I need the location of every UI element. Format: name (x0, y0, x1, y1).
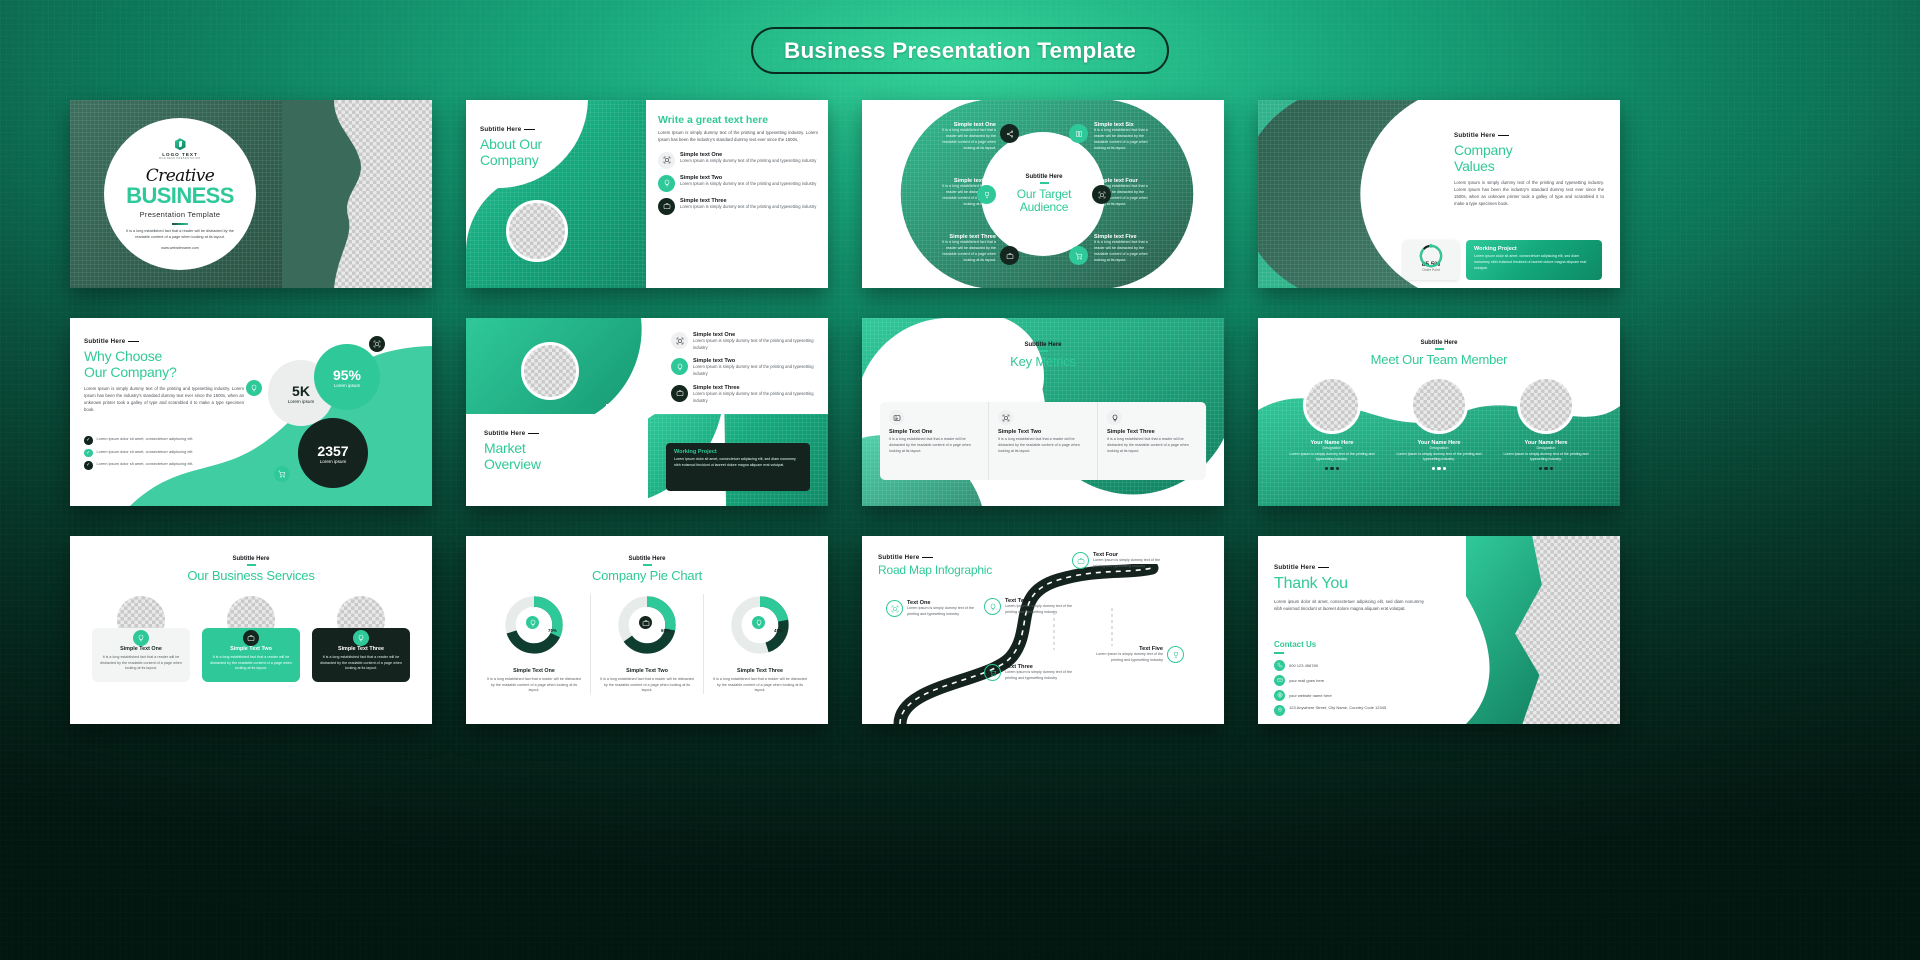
why-stat-label: Lorem ipsum (288, 399, 315, 404)
services-card-body: It is a long established fact that a rea… (100, 655, 182, 672)
market-subtitle: Subtitle Here (484, 430, 541, 437)
book-icon[interactable] (1069, 124, 1088, 143)
contact-row[interactable]: your website name here (1274, 690, 1434, 701)
avatar (1517, 376, 1575, 434)
audience-subtitle: Subtitle Here (1005, 174, 1083, 180)
briefcase-icon (639, 616, 652, 629)
values-working-card: Working Project Lorem ipsum dolor sit am… (1466, 240, 1602, 280)
metrics-card[interactable]: Simple Text One It is a long established… (880, 402, 989, 480)
services-subtitle: Subtitle Here (70, 556, 432, 562)
team-member-role: Designation (1500, 446, 1592, 450)
header-title-pill: Business Presentation Template (751, 27, 1169, 74)
about-item[interactable]: Simple text Three Lorem Ipsum is simply … (658, 198, 818, 215)
slide-key-metrics[interactable]: Subtitle Here Key Metrics Simple Text On… (862, 318, 1224, 506)
market-photo-placeholder (521, 342, 579, 400)
team-member[interactable]: Your Name Here Designation Lorem Ipsum i… (1500, 376, 1592, 470)
pie-label: Simple Text Three (712, 668, 808, 674)
cart-icon[interactable] (1069, 246, 1088, 265)
team-subtitle: Subtitle Here (1258, 340, 1620, 346)
why-stat-value: 2357 (317, 443, 348, 459)
why-stat-bubble: 2357 Lorem ipsum (298, 418, 368, 488)
target-icon[interactable] (369, 336, 385, 352)
cart-icon[interactable] (274, 466, 290, 482)
pie-item[interactable]: 45% Simple Text Three It is a long estab… (712, 594, 808, 694)
envelope-icon (1274, 675, 1285, 686)
about-subtitle: Subtitle Here (480, 126, 542, 133)
avatar (1303, 376, 1361, 434)
phone-icon (1274, 660, 1285, 671)
audience-item-body: It is a long established fact that a rea… (934, 240, 996, 264)
slide-about[interactable]: Subtitle Here About Our Company Write a … (466, 100, 828, 288)
metrics-subtitle: Subtitle Here (862, 342, 1224, 348)
share-icon[interactable] (1000, 124, 1019, 143)
pie-body: It is a long established fact that a rea… (486, 677, 582, 694)
market-item[interactable]: Simple text Three Lorem Ipsum is simply … (671, 385, 821, 404)
contact-row[interactable]: your mail goes here (1274, 675, 1434, 686)
metrics-card-title: Simple Text Three (1107, 429, 1197, 435)
contact-text: your website name here (1289, 693, 1332, 698)
values-card-body: Lorem ipsum dolor sit amet, consectetuer… (1474, 254, 1594, 271)
avatar (1410, 376, 1468, 434)
about-right-heading: Write a great text here (658, 114, 818, 126)
briefcase-icon (1072, 552, 1089, 569)
slide-roadmap[interactable]: Subtitle Here Road Map Infographic Text … (862, 536, 1224, 724)
check-icon: ✓ (84, 436, 93, 445)
bulb-icon (658, 175, 675, 192)
about-item-body: Lorem Ipsum is simply dummy text of the … (680, 181, 816, 188)
services-card[interactable]: Simple Text Three It is a long establish… (312, 596, 410, 682)
values-stat-card: 85.5% Order Point (1403, 240, 1459, 280)
about-title-line2: Company (480, 153, 542, 169)
bulb-icon (353, 630, 369, 646)
team-member-body: Lorem Ipsum is simply dummy text of the … (1286, 452, 1378, 463)
market-item-body: Lorem Ipsum is simply dummy text of the … (693, 364, 821, 377)
about-photo-placeholder (506, 200, 568, 262)
why-stat-bubble: 95% Lorem ipsum (314, 344, 380, 410)
services-card[interactable]: Simple Text One It is a long established… (92, 596, 190, 682)
team-member-body: Lorem Ipsum is simply dummy text of the … (1393, 452, 1485, 463)
market-working-card: Working Project Lorem ipsum dolor sit am… (666, 443, 810, 491)
thankyou-subtitle: Subtitle Here (1274, 564, 1424, 571)
pie-body: It is a long established fact that a rea… (712, 677, 808, 694)
why-stat-label: Lorem ipsum (334, 383, 361, 388)
contact-text: your mail goes here (1289, 678, 1324, 683)
metrics-card-title: Simple Text Two (998, 429, 1088, 435)
contact-heading: Contact Us (1274, 640, 1434, 649)
trophy-icon (1167, 646, 1184, 663)
metrics-card-body: It is a long established fact that a rea… (889, 437, 979, 455)
bulb-icon (526, 616, 539, 629)
target-icon (671, 332, 688, 349)
why-subtitle: Subtitle Here (84, 338, 244, 345)
why-stat-value: 5K (292, 383, 310, 399)
values-card-title: Working Project (1474, 246, 1594, 252)
slide-pie-chart[interactable]: Subtitle Here Company Pie Chart 70% Simp… (466, 536, 828, 724)
team-member-role: Designation (1286, 446, 1378, 450)
team-title: Meet Our Team Member (1258, 353, 1620, 368)
bulb-icon (1107, 410, 1122, 425)
market-card-title: Working Project (674, 449, 802, 455)
slide-thank-you[interactable]: Subtitle Here Thank You Lorem ipsum dolo… (1258, 536, 1620, 724)
roadmap-step-body: Lorem Ipsum is simply dummy text of the … (1093, 558, 1168, 570)
team-member[interactable]: Your Name Here Designation Lorem Ipsum i… (1286, 376, 1378, 470)
why-body: Lorem Ipsum is simply dummy text of the … (84, 386, 244, 414)
audience-item-body: It is a long established fact that a rea… (1094, 240, 1156, 264)
why-stat-value: 95% (333, 367, 361, 383)
donut-chart-icon (1418, 243, 1444, 269)
why-stat-label: Lorem ipsum (320, 459, 347, 464)
about-item-body: Lorem Ipsum is simply dummy text of the … (680, 204, 816, 211)
news-icon (889, 410, 904, 425)
pie-item[interactable]: 65% Simple Text Two It is a long establi… (599, 594, 695, 694)
check-icon: ✓ (84, 449, 93, 458)
target-icon[interactable] (1092, 185, 1111, 204)
metrics-card-body: It is a long established fact that a rea… (998, 437, 1088, 455)
why-check-item: ✓ Lorem ipsum dolor sit amet, consectetu… (84, 449, 209, 458)
globe-icon (1274, 690, 1285, 701)
bulb-icon (671, 358, 688, 375)
pie-subtitle: Subtitle Here (466, 556, 828, 562)
why-title-line2: Our Company? (84, 365, 244, 381)
about-right-body: Lorem Ipsum is simply dummy text of the … (658, 130, 818, 144)
cover-subtitle: Presentation Template (140, 210, 221, 219)
market-item[interactable]: Simple text One Lorem Ipsum is simply du… (671, 332, 821, 351)
about-title-line1: About Our (480, 137, 542, 153)
contact-row[interactable]: 000 123 456789 (1274, 660, 1434, 671)
pie-title: Company Pie Chart (466, 569, 828, 584)
values-title-line1: Company (1454, 143, 1604, 159)
why-check-text: Lorem ipsum dolor sit amet, consectetuer… (97, 436, 194, 442)
slide-cover[interactable]: LOGO TEXT BUSINESS PRESENTATION Creative… (70, 100, 432, 288)
market-item[interactable]: Simple text Two Lorem Ipsum is simply du… (671, 358, 821, 377)
roadmap-subtitle: Subtitle Here (878, 554, 992, 561)
slide-team[interactable]: Subtitle Here Meet Our Team Member Your … (1258, 318, 1620, 506)
metrics-card-body: It is a long established fact that a rea… (1107, 437, 1197, 455)
values-subtitle: Subtitle Here (1454, 132, 1604, 139)
pie-label: Simple Text Two (599, 668, 695, 674)
market-item-body: Lorem Ipsum is simply dummy text of the … (693, 338, 821, 351)
audience-title-line1: Our Target (1005, 188, 1083, 201)
services-card-title: Simple Text Two (210, 646, 292, 652)
roadmap-step-body: Lorem Ipsum is simply dummy text of the … (907, 606, 982, 618)
audience-item-body: It is a long established fact that a rea… (1094, 128, 1156, 152)
briefcase-icon[interactable] (1000, 246, 1019, 265)
slide-market-overview[interactable]: Subtitle Here Market Overview Simple tex… (466, 318, 828, 506)
cover-website: www.websitename.com (161, 246, 199, 250)
contact-row[interactable]: 123 Anywhere Street, City Name, Country … (1274, 705, 1434, 716)
services-title: Our Business Services (70, 569, 432, 584)
market-title-line2: Overview (484, 457, 541, 473)
silhouette-decoration (282, 100, 432, 288)
thankyou-body: Lorem ipsum dolor sit amet, consectetuer… (1274, 599, 1424, 613)
slide-company-values[interactable]: Subtitle Here Company Values Lorem Ipsum… (1258, 100, 1620, 288)
market-card-body: Lorem ipsum dolor sit amet, consectetuer… (674, 457, 802, 469)
services-card-body: It is a long established fact that a rea… (210, 655, 292, 672)
metrics-title: Key Metrics (862, 355, 1224, 370)
pie-value: 65% (661, 628, 670, 633)
metrics-card-title: Simple Text One (889, 429, 979, 435)
slide-services[interactable]: Subtitle Here Our Business Services Simp… (70, 536, 432, 724)
bulb-icon (133, 630, 149, 646)
about-item[interactable]: Simple text One Lorem Ipsum is simply du… (658, 152, 818, 169)
slide-target-audience[interactable]: Subtitle Here Our Target Audience Simple… (862, 100, 1224, 288)
briefcase-icon (243, 630, 259, 646)
market-item-body: Lorem Ipsum is simply dummy text of the … (693, 391, 821, 404)
audience-item-body: It is a long established fact that a rea… (934, 128, 996, 152)
why-check-text: Lorem ipsum dolor sit amet, consectetuer… (97, 461, 194, 467)
metrics-card[interactable]: Simple Text Two It is a long established… (989, 402, 1098, 480)
metrics-card-strip: Simple Text One It is a long established… (880, 402, 1206, 480)
page-title: Business Presentation Template (784, 38, 1136, 64)
contact-text: 123 Anywhere Street, City Name, Country … (1289, 705, 1386, 711)
cover-body: It is a long established fact that a rea… (122, 228, 238, 240)
pie-value: 70% (548, 628, 557, 633)
why-check-text: Lorem ipsum dolor sit amet, consectetuer… (97, 449, 194, 455)
team-member-body: Lorem Ipsum is simply dummy text of the … (1500, 452, 1592, 463)
pin-icon (1274, 705, 1285, 716)
pie-body: It is a long established fact that a rea… (599, 677, 695, 694)
about-item-body: Lorem Ipsum is simply dummy text of the … (680, 158, 816, 165)
audience-title-line2: Audience (1005, 201, 1083, 214)
bulb-icon[interactable] (246, 380, 262, 396)
logo-icon (175, 138, 186, 150)
services-card-title: Simple Text One (100, 646, 182, 652)
roadmap-step[interactable]: Text One Lorem Ipsum is simply dummy tex… (886, 600, 982, 618)
values-body: Lorem Ipsum is simply dummy text of the … (1454, 180, 1604, 208)
values-title-line2: Values (1454, 159, 1604, 175)
contact-text: 000 123 456789 (1289, 663, 1318, 668)
pie-item[interactable]: 70% Simple Text One It is a long establi… (486, 594, 582, 694)
slide-why-choose[interactable]: Subtitle Here Why Choose Our Company? Lo… (70, 318, 432, 506)
pie-value: 45% (774, 628, 783, 633)
about-item[interactable]: Simple text Two Lorem Ipsum is simply du… (658, 175, 818, 192)
pie-label: Simple Text One (486, 668, 582, 674)
target-icon (886, 600, 903, 617)
thankyou-title: Thank You (1274, 575, 1424, 593)
metrics-card[interactable]: Simple Text Three It is a long establish… (1098, 402, 1206, 480)
cover-main-title: BUSINESS (126, 186, 234, 207)
target-icon (998, 410, 1013, 425)
briefcase-icon (658, 198, 675, 215)
connector-lines (992, 606, 1162, 686)
target-icon (658, 152, 675, 169)
why-check-item: ✓ Lorem ipsum dolor sit amet, consectetu… (84, 461, 209, 470)
services-card-title: Simple Text Three (320, 646, 402, 652)
roadmap-step[interactable]: Text Four Lorem Ipsum is simply dummy te… (1072, 552, 1168, 570)
bulb-icon (752, 616, 765, 629)
team-member-role: Designation (1393, 446, 1485, 450)
services-card[interactable]: Simple Text Two It is a long established… (202, 596, 300, 682)
logo-tagline: BUSINESS PRESENTATION (159, 157, 201, 160)
divider (172, 223, 188, 225)
briefcase-icon (671, 385, 688, 402)
services-card-body: It is a long established fact that a rea… (320, 655, 402, 672)
why-title-line1: Why Choose (84, 349, 244, 365)
team-member[interactable]: Your Name Here Designation Lorem Ipsum i… (1393, 376, 1485, 470)
trophy-icon[interactable] (977, 185, 996, 204)
slides-grid: LOGO TEXT BUSINESS PRESENTATION Creative… (70, 100, 1850, 724)
why-check-item: ✓ Lorem ipsum dolor sit amet, consectetu… (84, 436, 209, 445)
market-title-line1: Market (484, 441, 541, 457)
check-icon: ✓ (84, 461, 93, 470)
